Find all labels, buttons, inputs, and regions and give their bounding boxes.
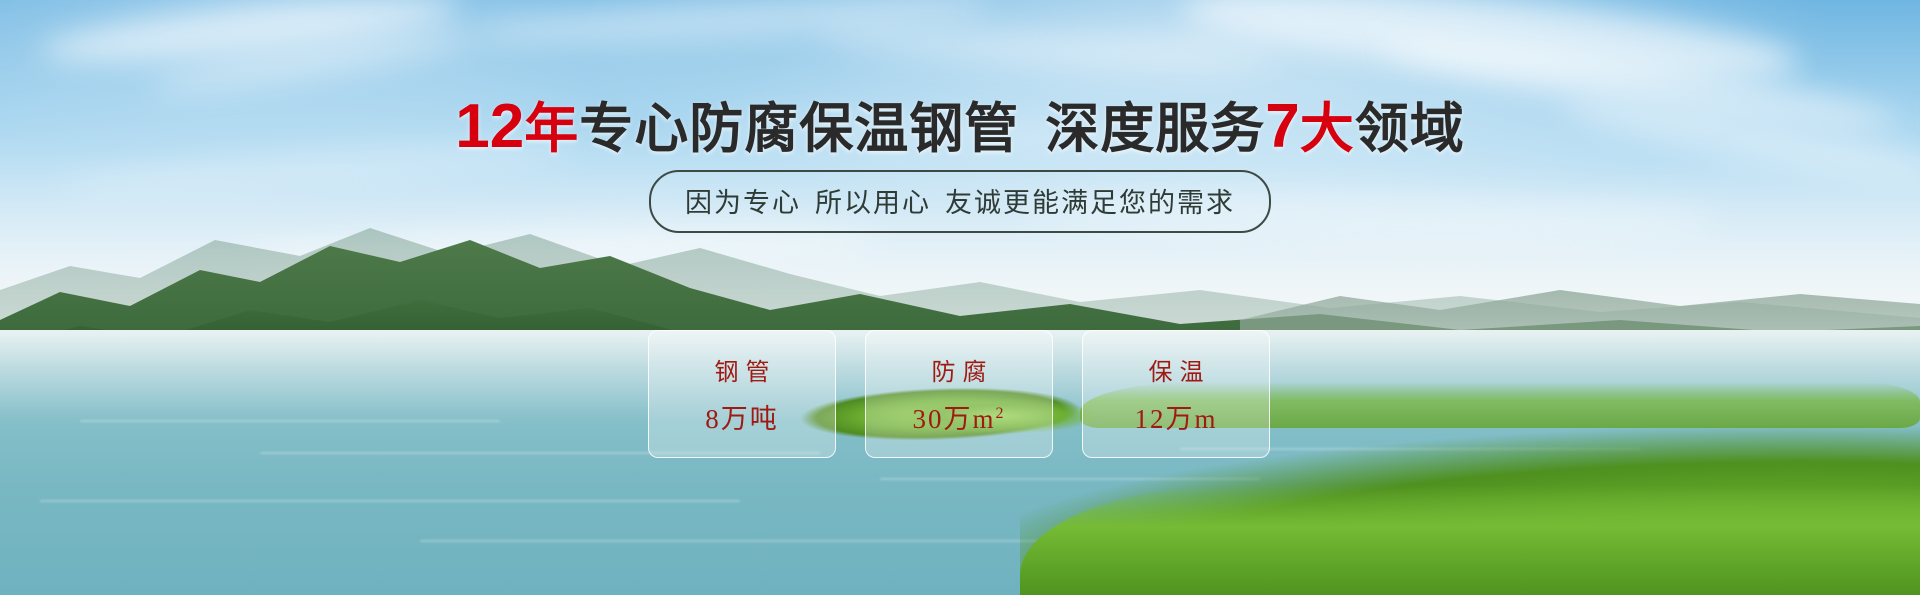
headline-years-unit: 年 (524, 99, 579, 159)
water-ripple (40, 500, 740, 502)
grass-field-bottom (1020, 485, 1920, 595)
headline-years-number: 12 (455, 92, 524, 161)
water-ripple (80, 420, 500, 422)
stat-card-group: 钢管 8万吨 防腐 30万m2 保温 12万m (648, 330, 1272, 458)
stat-card-value-text: 30万m (912, 404, 995, 434)
stat-card-value-text: 12万m (1134, 404, 1217, 434)
headline-fields-number: 7 (1265, 92, 1299, 161)
headline-fields-unit: 大 (1300, 99, 1355, 159)
headline-second-text: 深度服务 (1045, 99, 1265, 159)
stat-card-label: 防腐 (925, 352, 994, 387)
stat-card-anticorrosion[interactable]: 防腐 30万m2 (865, 330, 1053, 458)
stat-card-value: 12万m (1134, 397, 1217, 436)
subtitle-container: 因为专心所以用心友诚更能满足您的需求 (0, 170, 1920, 233)
stat-card-insulation[interactable]: 保温 12万m (1082, 330, 1270, 458)
stat-card-value: 30万m2 (912, 397, 1005, 436)
stat-card-steel-pipe[interactable]: 钢管 8万吨 (648, 330, 836, 458)
subtitle-part-3: 友诚更能满足您的需求 (945, 188, 1235, 218)
stat-card-label: 保温 (1142, 352, 1211, 387)
page-title: 12年专心防腐保温钢管深度服务7大领域 (0, 84, 1920, 163)
stat-card-label: 钢管 (708, 352, 777, 387)
headline-tail-text: 领域 (1355, 99, 1465, 159)
subtitle-pill: 因为专心所以用心友诚更能满足您的需求 (649, 170, 1271, 233)
subtitle-part-1: 因为专心 (685, 188, 801, 218)
water-ripple (420, 540, 1040, 542)
subtitle-part-2: 所以用心 (815, 188, 931, 218)
stat-card-value-superscript: 2 (996, 405, 1006, 422)
stat-card-value-text: 8万吨 (705, 404, 779, 434)
stat-card-value: 8万吨 (705, 397, 779, 436)
headline-main-text: 专心防腐保温钢管 (579, 99, 1019, 159)
hero-banner: 12年专心防腐保温钢管深度服务7大领域 因为专心所以用心友诚更能满足您的需求 钢… (0, 0, 1920, 595)
